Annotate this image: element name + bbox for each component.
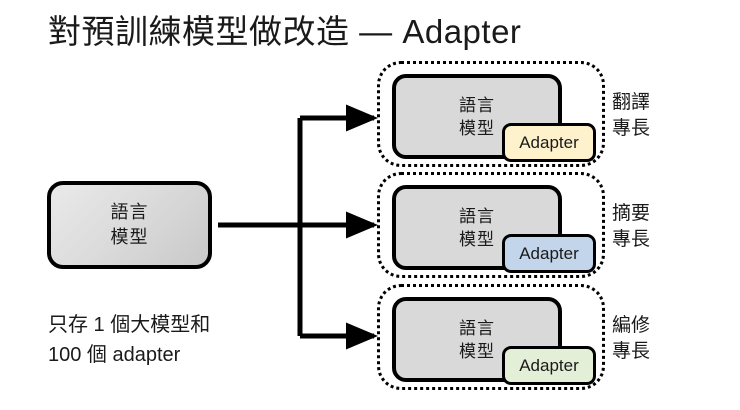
adapter-box-0: Adapter xyxy=(502,123,596,162)
model-label-2-line1: 語言 xyxy=(459,317,495,340)
adapter-box-2: Adapter xyxy=(502,346,596,385)
specialty-label-2-line2: 專長 xyxy=(612,339,650,365)
adapted-model-group-1: 語言 模型 Adapter xyxy=(377,172,605,278)
model-label-1-line1: 語言 xyxy=(459,205,495,228)
model-label-1-line2: 模型 xyxy=(459,228,495,251)
source-model-box: 語言 模型 xyxy=(47,181,212,269)
specialty-label-0: 翻譯 專長 xyxy=(612,90,650,142)
specialty-label-2: 編修 專長 xyxy=(612,313,650,365)
specialty-label-1-line2: 專長 xyxy=(612,227,650,253)
specialty-label-2-line1: 編修 xyxy=(612,313,650,339)
caption-line2: 100 個 adapter xyxy=(48,340,210,370)
model-label-0-line1: 語言 xyxy=(459,94,495,117)
model-label-0-line2: 模型 xyxy=(459,117,495,140)
specialty-label-0-line2: 專長 xyxy=(612,116,650,142)
specialty-label-1: 摘要 專長 xyxy=(612,201,650,253)
caption-line1: 只存 1 個大模型和 xyxy=(48,310,210,340)
source-model-label-line2: 模型 xyxy=(111,225,149,250)
caption-text: 只存 1 個大模型和 100 個 adapter xyxy=(48,310,210,370)
page-title: 對預訓練模型做改造 — Adapter xyxy=(48,12,521,52)
source-model-label-line1: 語言 xyxy=(111,200,149,225)
adapted-model-group-2: 語言 模型 Adapter xyxy=(377,284,605,390)
specialty-label-0-line1: 翻譯 xyxy=(612,90,650,116)
slide-canvas: 對預訓練模型做改造 — Adapter 語言 模型 只存 1 個大模型和 100… xyxy=(0,0,740,410)
adapter-box-1: Adapter xyxy=(502,234,596,273)
adapted-model-group-0: 語言 模型 Adapter xyxy=(377,61,605,167)
model-label-2-line2: 模型 xyxy=(459,340,495,363)
specialty-label-1-line1: 摘要 xyxy=(612,201,650,227)
